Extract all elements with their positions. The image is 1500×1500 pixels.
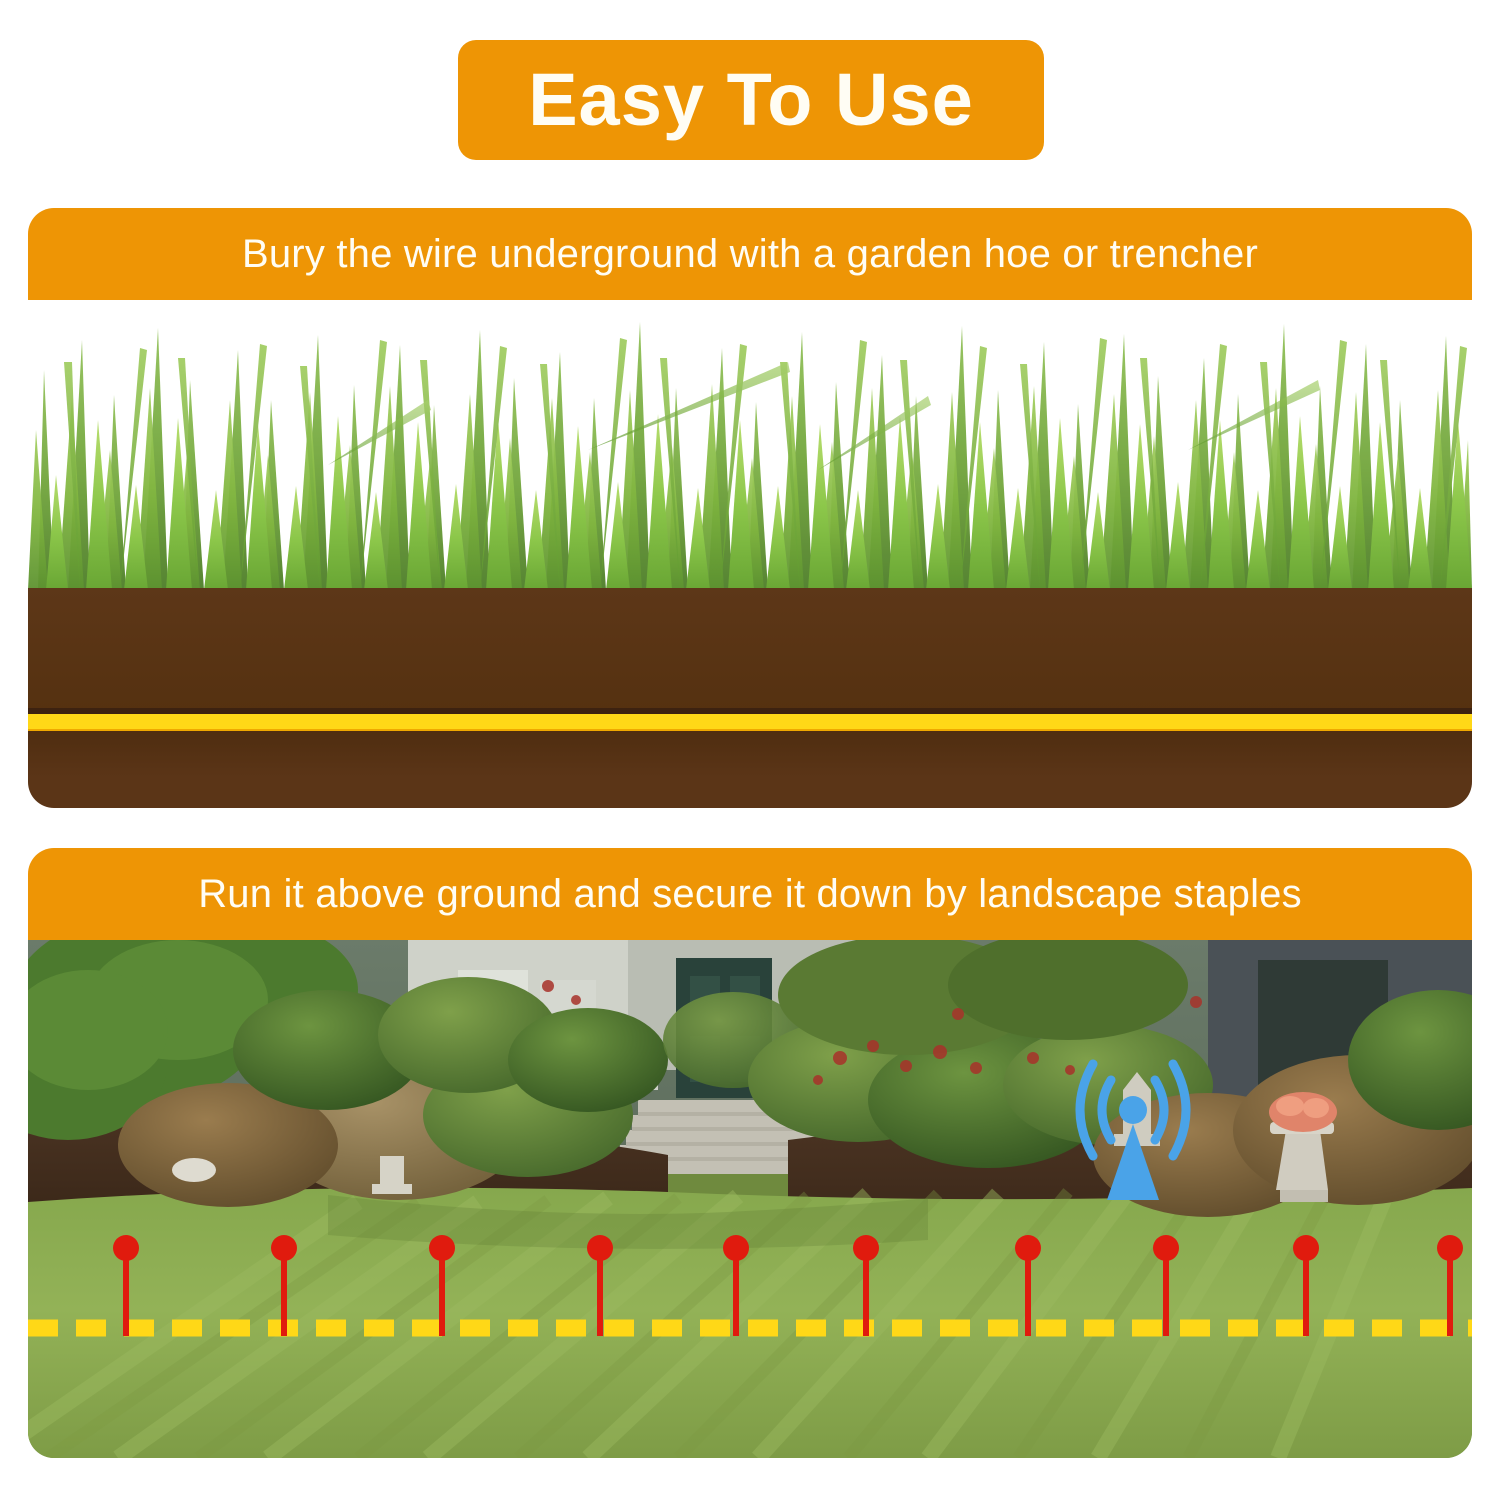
grass-layer [28,300,1472,590]
buried-boundary-wire [28,714,1472,731]
boundary-wire-overlay [28,940,1472,1458]
panel-above-ground: Run it above ground and secure it down b… [28,848,1472,1458]
page-title: Easy To Use [528,63,974,137]
panel-bury-underground: Bury the wire underground with a garden … [28,208,1472,808]
soil-cross-section-illustration [28,300,1472,808]
caption-text-above-ground: Run it above ground and secure it down b… [198,872,1302,917]
caption-text-bury: Bury the wire underground with a garden … [242,232,1258,277]
title-banner: Easy To Use [458,40,1044,160]
caption-bar-bury: Bury the wire underground with a garden … [28,208,1472,300]
caption-bar-above-ground: Run it above ground and secure it down b… [28,848,1472,940]
landscape-staples [113,1235,1463,1336]
topsoil-layer [28,588,1472,712]
lawn-photo [28,940,1472,1458]
subsoil-layer [28,731,1472,808]
grass-blades-icon [28,300,1472,590]
